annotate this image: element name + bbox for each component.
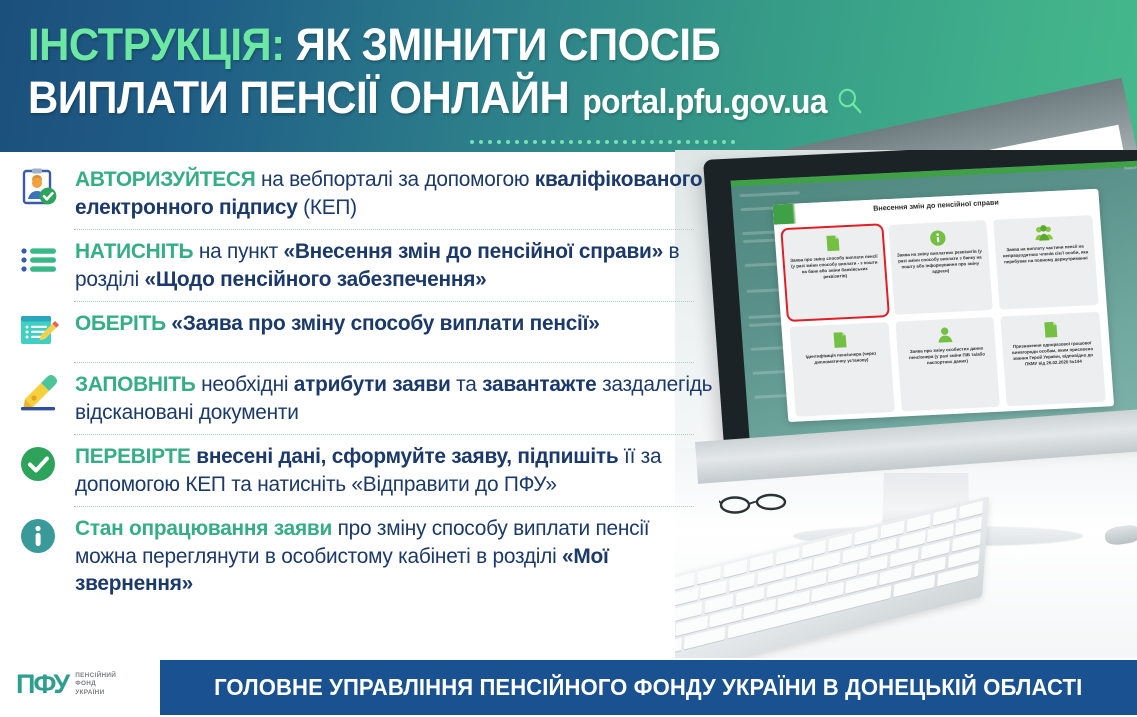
check-circle-icon [16, 443, 62, 487]
info-circle-icon [16, 515, 62, 559]
step-keyword: АВТОРИЗУЙТЕСЯ [75, 167, 255, 191]
computer-monitor: Закрити © 2021 Пенсійний фонд України До… [703, 150, 1137, 459]
step-separator [74, 301, 694, 302]
id-card-verified-icon [16, 166, 62, 210]
ghost-line [749, 322, 785, 327]
title-accent: ІНСТРУКЦІЯ: [28, 19, 285, 70]
step-separator [74, 229, 694, 230]
footer: ПФУ ПЕНСІЙНИЙ ФОНД УКРАЇНИ ГОЛОВНЕ УПРАВ… [0, 658, 1137, 717]
step-keyword: ОБЕРІТЬ [75, 311, 166, 335]
step-keyword: ЗАПОВНІТЬ [75, 372, 196, 396]
service-card-label: Заява на виплату частини пенсії на непра… [1001, 243, 1091, 265]
service-card-3[interactable]: Заява на виплату частини пенсії на непра… [993, 215, 1098, 310]
monitor-screen: Закрити © 2021 Пенсійний фонд України До… [731, 160, 1137, 450]
step-item-1: АВТОРИЗУЙТЕСЯ на вебпорталі за допомогою… [8, 160, 740, 227]
group-icon [1034, 224, 1054, 242]
step-fragment: «Щодо пенсійного забезпечення» [145, 267, 487, 291]
logo-line2: ФОНД [75, 680, 116, 688]
service-card-6[interactable]: Призначення одноразової грошової винагор… [1001, 312, 1106, 407]
step-separator [74, 434, 694, 435]
logo-line3: УКРАЇНИ [75, 689, 116, 697]
step-fragment: та [451, 372, 483, 396]
form-edit-icon [16, 310, 62, 354]
step-fragment: завантажте [482, 372, 596, 396]
service-card-5[interactable]: Заява про зміну особистих даних пенсіоне… [895, 317, 1000, 412]
step-item-4: ЗАПОВНІТЬ необхідні атрибути заяви та за… [8, 365, 740, 432]
logo-subtext: ПЕНСІЙНИЙ ФОНД УКРАЇНИ [75, 672, 116, 697]
step-text-1: АВТОРИЗУЙТЕСЯ на вебпорталі за допомогою… [75, 166, 714, 221]
step-text-6: Стан опрацювання заяви про зміну способу… [75, 515, 714, 598]
service-card-label: Заява про зміну особистих даних пенсіоне… [902, 345, 992, 367]
header-dotted-divider [470, 140, 735, 144]
service-card-1[interactable]: Заява про зміну способу виплати пенсії (… [782, 225, 887, 320]
title-rest: ЯК ЗМІНИТИ СПОСІБ [285, 19, 721, 70]
info-icon [929, 229, 947, 247]
step-fragment: на пункт [193, 239, 283, 263]
service-card-grid: Заява про зміну способу виплати пенсії (… [774, 209, 1114, 422]
page-title-line2: ВИПЛАТИ ПЕНСІЇ ОНЛАЙНportal.pfu.gov.ua [28, 71, 977, 129]
site-top-bar [731, 160, 1137, 186]
service-card-label: Заява на зміну виплатних реквізитів (у р… [895, 248, 985, 276]
step-keyword: Стан опрацювання заяви [75, 516, 332, 540]
page-title-line1: ІНСТРУКЦІЯ: ЯК ЗМІНИТИ СПОСІБ [28, 18, 977, 71]
document-icon [824, 234, 842, 252]
step-fragment: необхідні [196, 372, 294, 396]
logo-line1: ПЕНСІЙНИЙ [75, 672, 116, 680]
pen-nib-icon [16, 371, 62, 415]
monitor-close-label[interactable]: Закрити [1124, 165, 1137, 171]
service-card-label: Заява про зміну способу виплати пенсії (… [789, 254, 879, 282]
step-text-3: ОБЕРІТЬ «Заява про зміну способу виплати… [75, 310, 600, 338]
header-title-wrap: ІНСТРУКЦІЯ: ЯК ЗМІНИТИ СПОСІБ ВИПЛАТИ ПЕ… [28, 18, 1048, 129]
search-icon[interactable] [836, 74, 864, 127]
step-fragment: внесені дані, сформуйте заяву, підпишіть [191, 444, 619, 468]
service-card-2[interactable]: Заява на зміну виплатних реквізитів (у р… [888, 220, 993, 315]
steps-list: АВТОРИЗУЙТЕСЯ на вебпорталі за допомогою… [0, 160, 740, 650]
step-item-5: ПЕРЕВІРТЕ внесені дані, сформуйте заяву,… [8, 437, 740, 504]
step-text-5: ПЕРЕВІРТЕ внесені дані, сформуйте заяву,… [75, 443, 714, 498]
step-text-4: ЗАПОВНІТЬ необхідні атрибути заяви та за… [75, 371, 714, 426]
step-fragment: (КЕП) [298, 195, 357, 219]
pfu-logo: ПФУ ПЕНСІЙНИЙ ФОНД УКРАЇНИ [16, 671, 116, 698]
footer-text: ГОЛОВНЕ УПРАВЛІННЯ ПЕНСІЙНОГО ФОНДУ УКРА… [214, 674, 1082, 701]
step-fragment: атрибути заяви [294, 372, 451, 396]
list-icon [16, 238, 62, 282]
step-keyword: НАТИСНІТЬ [75, 239, 193, 263]
step-separator [74, 362, 694, 363]
header-banner: ІНСТРУКЦІЯ: ЯК ЗМІНИТИ СПОСІБ ВИПЛАТИ ПЕ… [0, 0, 1137, 152]
step-fragment: «Заява про зміну способу виплати пенсії» [171, 311, 599, 335]
logo-mark: ПФУ [16, 671, 68, 698]
service-card-label: Ідентифікація пенсіонера (через дипломат… [797, 350, 886, 366]
footer-banner-bar: ГОЛОВНЕ УПРАВЛІННЯ ПЕНСІЙНОГО ФОНДУ УКРА… [160, 660, 1137, 715]
person-icon [937, 326, 953, 344]
step-keyword: ПЕРЕВІРТЕ [75, 444, 191, 468]
document-icon [831, 331, 849, 349]
service-card-4[interactable]: Ідентифікація пенсіонера (через дипломат… [789, 322, 894, 417]
step-item-3: ОБЕРІТЬ «Заява про зміну способу виплати… [8, 304, 740, 360]
portal-url[interactable]: portal.pfu.gov.ua [582, 76, 827, 129]
step-text-2: НАТИСНІТЬ на пункт «Внесення змін до пен… [75, 238, 714, 293]
step-separator [74, 506, 694, 507]
desk-photo: Закрити © 2021 Пенсійний фонд України До… [675, 150, 1137, 658]
step-fragment: «Внесення змін до пенсійної справи» [284, 239, 663, 263]
ghost-line [740, 191, 800, 197]
step-item-2: НАТИСНІТЬ на пункт «Внесення змін до пен… [8, 232, 740, 299]
service-card-label: Призначення одноразової грошової винагор… [1008, 340, 1098, 368]
step-item-6: Стан опрацювання заяви про зміну способу… [8, 509, 740, 604]
title-line2-text: ВИПЛАТИ ПЕНСІЇ ОНЛАЙН [28, 72, 569, 123]
services-panel: Внесення змін до пенсійної справи Заява … [772, 189, 1114, 422]
document-icon [1042, 321, 1060, 339]
step-fragment: на вебпорталі за допомогою [255, 167, 534, 191]
